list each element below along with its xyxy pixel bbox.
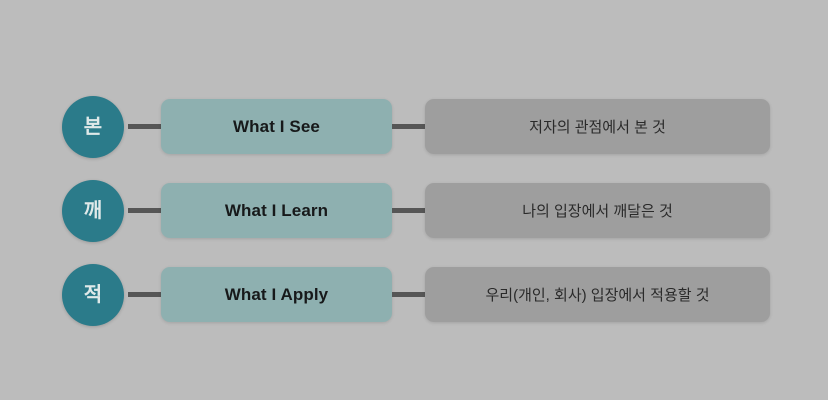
framework-row: 깨 What I Learn 나의 입장에서 깨달은 것 [0,180,828,242]
connector-title-to-description [392,292,425,297]
step-badge-circle-1[interactable]: 본 [62,96,124,158]
step-description-card-2[interactable]: 나의 입장에서 깨달은 것 [425,183,770,238]
three-step-reading-framework-diagram: 본 What I See 저자의 관점에서 본 것 깨 What I Learn… [0,0,828,400]
step-description-card-1[interactable]: 저자의 관점에서 본 것 [425,99,770,154]
connector-badge-to-title [128,292,161,297]
step-badge-circle-2[interactable]: 깨 [62,180,124,242]
step-description-label: 나의 입장에서 깨달은 것 [522,200,673,221]
step-description-card-3[interactable]: 우리(개인, 회사) 입장에서 적용할 것 [425,267,770,322]
framework-row: 본 What I See 저자의 관점에서 본 것 [0,96,828,158]
connector-badge-to-title [128,124,161,129]
step-title-card-3[interactable]: What I Apply [161,267,392,322]
connector-title-to-description [392,124,425,129]
connector-badge-to-title [128,208,161,213]
step-title-label: What I Learn [225,201,328,221]
step-title-label: What I See [233,117,320,137]
step-title-card-2[interactable]: What I Learn [161,183,392,238]
step-badge-label: 깨 [84,201,102,221]
step-badge-circle-3[interactable]: 적 [62,264,124,326]
step-badge-label: 본 [84,117,102,137]
step-title-label: What I Apply [225,285,329,305]
step-badge-label: 적 [84,285,102,305]
connector-title-to-description [392,208,425,213]
framework-row: 적 What I Apply 우리(개인, 회사) 입장에서 적용할 것 [0,264,828,326]
step-description-label: 우리(개인, 회사) 입장에서 적용할 것 [485,284,709,305]
step-title-card-1[interactable]: What I See [161,99,392,154]
step-description-label: 저자의 관점에서 본 것 [529,116,666,137]
